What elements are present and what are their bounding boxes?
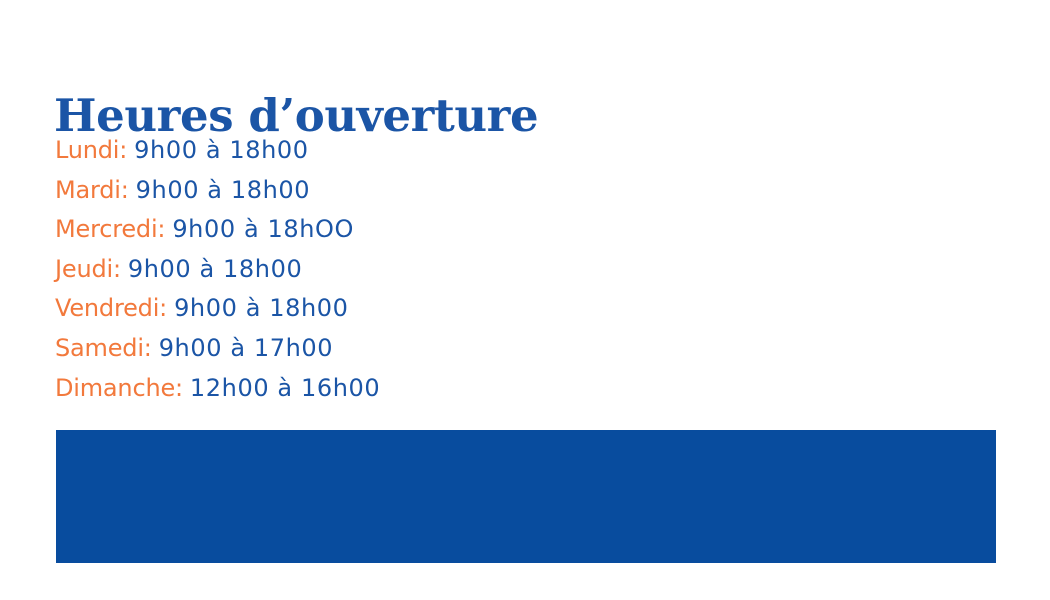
day-label: Jeudi: <box>55 255 121 283</box>
slide-canvas: Heures d’ouverture Lundi:9h00 à 18h00 Ma… <box>0 0 1050 600</box>
time-value: 9h00 à 18hOO <box>172 215 354 243</box>
blue-banner-block <box>56 430 996 563</box>
time-value: 9h00 à 18h00 <box>134 136 308 164</box>
list-item: Mercredi:9h00 à 18hOO <box>55 210 555 250</box>
day-label: Lundi: <box>55 136 127 164</box>
list-item: Mardi:9h00 à 18h00 <box>55 171 555 211</box>
time-value: 12h00 à 16h00 <box>190 374 380 402</box>
day-label: Samedi: <box>55 334 152 362</box>
list-item: Lundi:9h00 à 18h00 <box>55 131 555 171</box>
list-item: Dimanche:12h00 à 16h00 <box>55 369 555 409</box>
day-label: Vendredi: <box>55 294 167 322</box>
time-value: 9h00 à 18h00 <box>136 176 310 204</box>
day-label: Dimanche: <box>55 374 183 402</box>
day-label: Mercredi: <box>55 215 165 243</box>
time-value: 9h00 à 18h00 <box>174 294 348 322</box>
time-value: 9h00 à 18h00 <box>128 255 302 283</box>
day-label: Mardi: <box>55 176 129 204</box>
opening-hours-list: Lundi:9h00 à 18h00 Mardi:9h00 à 18h00 Me… <box>55 131 555 408</box>
list-item: Jeudi:9h00 à 18h00 <box>55 250 555 290</box>
list-item: Samedi:9h00 à 17h00 <box>55 329 555 369</box>
time-value: 9h00 à 17h00 <box>159 334 333 362</box>
list-item: Vendredi:9h00 à 18h00 <box>55 289 555 329</box>
